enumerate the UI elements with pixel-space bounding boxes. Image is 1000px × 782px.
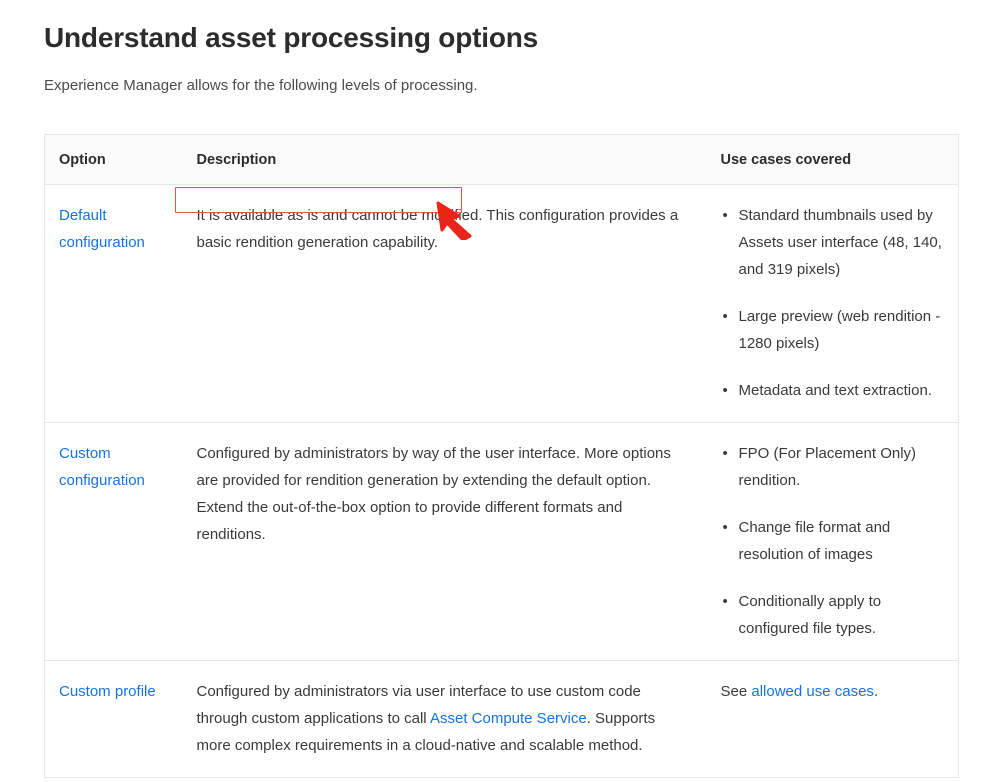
list-item: Standard thumbnails used by Assets user … bbox=[739, 202, 945, 283]
cell-option-default: Default configuration bbox=[45, 185, 183, 423]
use-case-suffix: . bbox=[874, 683, 878, 700]
cell-description-custom-configuration: Configured by administrators by way of t… bbox=[183, 423, 707, 661]
table-row: Custom configuration Configured by admin… bbox=[45, 423, 959, 661]
cell-description-custom-profile: Configured by administrators via user in… bbox=[183, 661, 707, 778]
link-asset-compute-service[interactable]: Asset Compute Service bbox=[430, 710, 587, 727]
cell-option-custom-profile: Custom profile bbox=[45, 661, 183, 778]
list-item: Metadata and text extraction. bbox=[739, 377, 945, 404]
table-row: Default configuration It is available as… bbox=[45, 185, 959, 423]
link-custom-configuration[interactable]: Custom configuration bbox=[59, 445, 145, 489]
use-case-list: FPO (For Placement Only) rendition. Chan… bbox=[721, 440, 945, 642]
list-item: FPO (For Placement Only) rendition. bbox=[739, 440, 945, 494]
cell-use-cases-default: Standard thumbnails used by Assets user … bbox=[707, 185, 959, 423]
description-highlighted-sentence: It is available as is and cannot be modi… bbox=[197, 207, 483, 224]
cell-description-default: It is available as is and cannot be modi… bbox=[183, 185, 707, 423]
column-header-description: Description bbox=[183, 135, 707, 185]
page-container: Understand asset processing options Expe… bbox=[0, 0, 1000, 782]
cell-option-custom-configuration: Custom configuration bbox=[45, 423, 183, 661]
asset-processing-options-table: Option Description Use cases covered Def… bbox=[44, 134, 959, 778]
column-header-use-cases: Use cases covered bbox=[707, 135, 959, 185]
list-item: Change file format and resolution of ima… bbox=[739, 514, 945, 568]
table-row: Custom profile Configured by administrat… bbox=[45, 661, 959, 778]
use-case-prefix: See bbox=[721, 683, 752, 700]
use-case-list: Standard thumbnails used by Assets user … bbox=[721, 202, 945, 404]
description-text: Configured by administrators by way of t… bbox=[197, 445, 671, 543]
table-header-row: Option Description Use cases covered bbox=[45, 135, 959, 185]
column-header-option: Option bbox=[45, 135, 183, 185]
intro-paragraph: Experience Manager allows for the follow… bbox=[44, 55, 956, 97]
link-custom-profile[interactable]: Custom profile bbox=[59, 683, 156, 700]
cell-use-cases-custom-configuration: FPO (For Placement Only) rendition. Chan… bbox=[707, 423, 959, 661]
list-item: Large preview (web rendition - 1280 pixe… bbox=[739, 303, 945, 357]
link-default-configuration[interactable]: Default configuration bbox=[59, 207, 145, 251]
link-allowed-use-cases[interactable]: allowed use cases bbox=[751, 683, 874, 700]
page-title: Understand asset processing options bbox=[44, 0, 956, 55]
cell-use-cases-custom-profile: See allowed use cases. bbox=[707, 661, 959, 778]
list-item: Conditionally apply to configured file t… bbox=[739, 588, 945, 642]
